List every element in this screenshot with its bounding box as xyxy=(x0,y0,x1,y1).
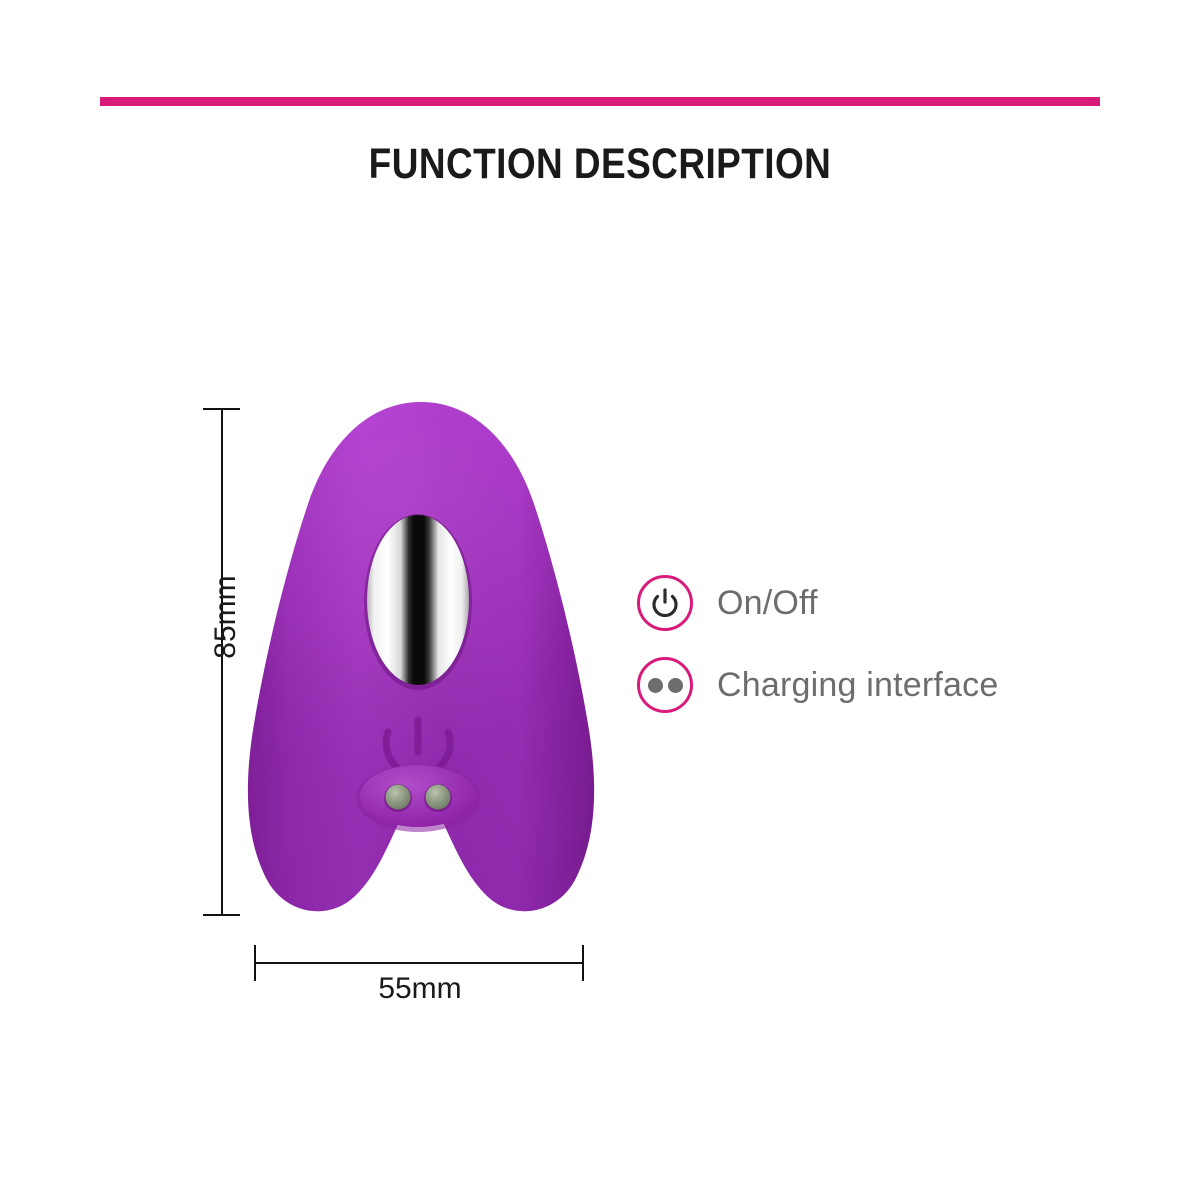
metallic-oval-window xyxy=(364,514,472,690)
page-title: FUNCTION DESCRIPTION xyxy=(84,140,1116,189)
width-dimension-label: 55mm xyxy=(254,972,586,1006)
charging-port xyxy=(356,764,480,832)
charging-contacts-icon xyxy=(637,657,693,713)
legend-item-on-off: On/Off xyxy=(637,572,1057,634)
legend-item-charging-interface: Charging interface xyxy=(637,654,1057,716)
contact-dot-right xyxy=(668,678,683,693)
contact-dot-left xyxy=(648,678,663,693)
product-image xyxy=(246,400,596,920)
product-function-description-page: FUNCTION DESCRIPTION 85mm 55mm xyxy=(0,0,1200,1200)
power-icon xyxy=(637,575,693,631)
width-dimension-line xyxy=(254,962,584,964)
legend: On/Off Charging interface xyxy=(637,572,1057,736)
legend-label-charging-interface: Charging interface xyxy=(717,666,998,705)
header-accent-bar xyxy=(100,97,1100,106)
legend-label-on-off: On/Off xyxy=(717,584,818,623)
height-dimension-label: 85mm xyxy=(209,552,243,682)
height-dimension-tick-bottom xyxy=(203,914,240,916)
